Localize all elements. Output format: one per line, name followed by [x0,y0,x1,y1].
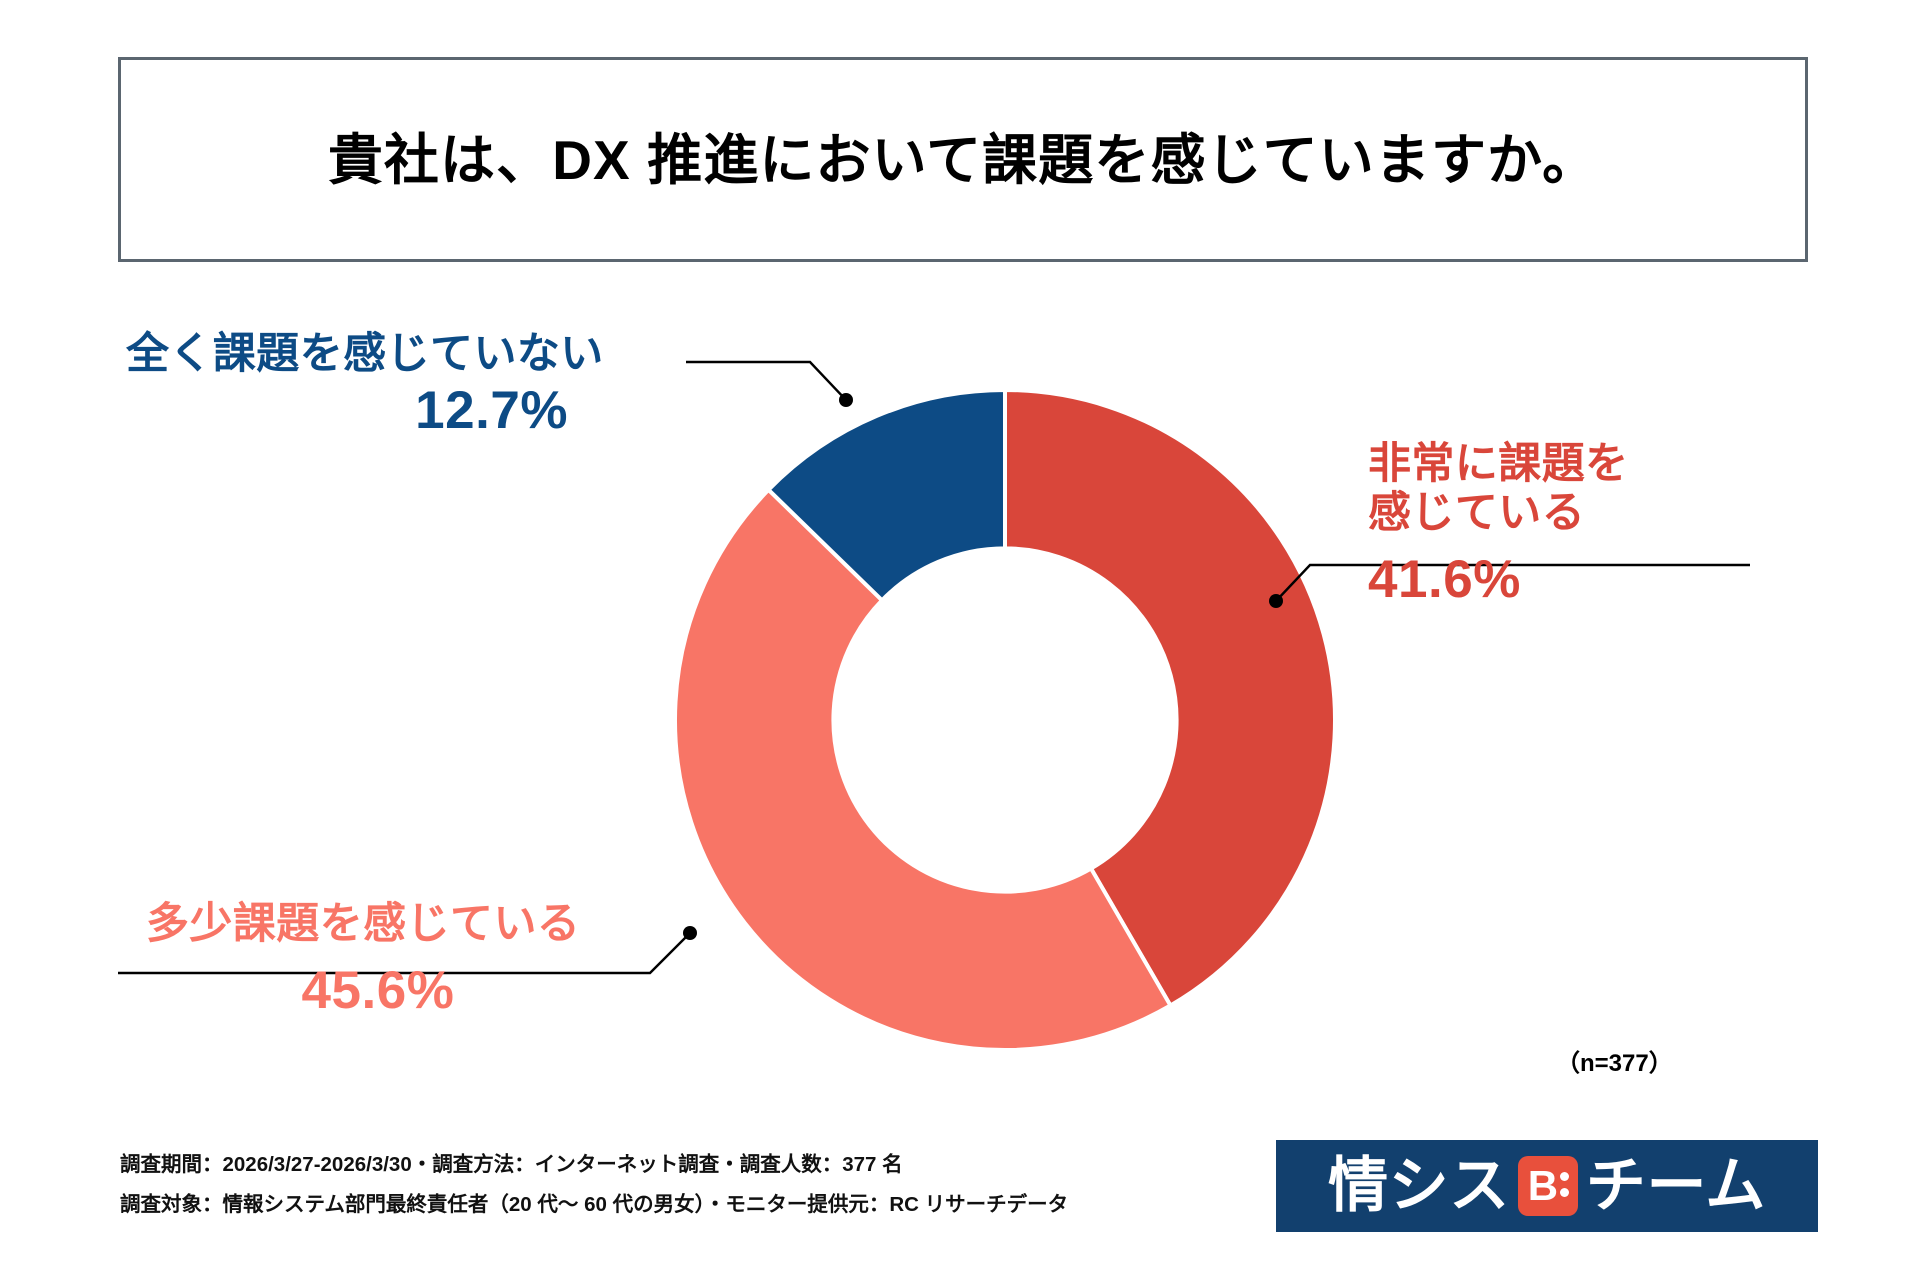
callout-very-label-line1: 非常に課題を [1368,440,1629,489]
footnotes: 調査期間：2026/3/27-2026/3/30・調査方法：インターネット調査・… [120,1145,1068,1225]
logo-text-right: チーム [1586,1156,1766,1216]
slide-canvas: 貴社は、DX 推進において課題を感じていますか。 全く課題を感じていない 12.… [0,0,1920,1280]
logo-badge-letter: B [1528,1165,1558,1207]
logo-badge-icon: B [1518,1156,1578,1216]
logo-badge-dots-icon [1560,1172,1569,1200]
callout-none: 全く課題を感じていない 12.7% [126,330,686,441]
callout-none-percent: 12.7% [126,381,686,441]
page-title: 貴社は、DX 推進において課題を感じていますか。 [328,127,1598,193]
callout-some-percent: 45.6% [128,961,658,1021]
brand-logo: 情シス B チーム [1276,1140,1818,1232]
callout-some-label: 多少課題を感じている [128,900,658,949]
footnote-line-1: 調査期間：2026/3/27-2026/3/30・調査方法：インターネット調査・… [120,1145,1068,1185]
donut-chart [655,370,1355,1070]
callout-some: 多少課題を感じている 45.6% [128,900,658,1021]
callout-very: 非常に課題を 感じている 41.6% [1368,440,1629,610]
callout-very-percent: 41.6% [1368,550,1629,610]
callout-very-label-line2: 感じている [1368,489,1629,538]
footnote-line-2: 調査対象：情報システム部門最終責任者（20 代〜 60 代の男女）・モニター提供… [120,1185,1068,1225]
title-box: 貴社は、DX 推進において課題を感じていますか。 [118,57,1808,262]
donut-svg [655,370,1355,1070]
logo-text-left: 情シス [1328,1156,1510,1216]
callout-none-label: 全く課題を感じていない [126,330,686,379]
sample-size-note: （n=377） [1556,1043,1673,1078]
